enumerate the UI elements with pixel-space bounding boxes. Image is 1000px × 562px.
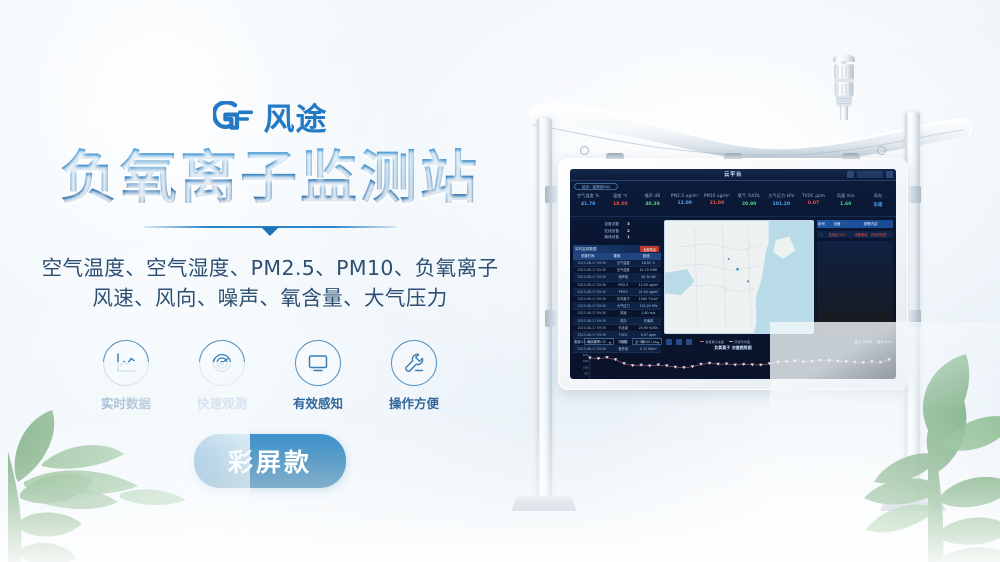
metric-label: PM2.5 ug/m³	[669, 193, 701, 198]
table-cell: 2023-08-17 09:30	[573, 282, 611, 288]
brand-name: 风途	[264, 94, 328, 139]
alarm-row[interactable]: 1监测站 003设备离线，请及时检查	[817, 231, 893, 238]
metric-tile[interactable]: 空气湿度 %41.70	[572, 191, 604, 216]
alarm-cell: 1	[817, 233, 826, 237]
kpi-min: 最小 820	[877, 339, 892, 344]
metric-value: 12.00	[669, 201, 701, 206]
divider-triangle-icon	[261, 227, 279, 236]
frame-hook	[842, 153, 860, 159]
metric-tile[interactable]: 噪声 dB40.30	[636, 191, 668, 216]
table-cell: PM2.5	[611, 282, 636, 288]
table-cell: 空气温度	[611, 260, 636, 266]
alarm-panel: 序号设备报警内容 1监测站 003设备离线，请及时检查	[817, 220, 893, 334]
chart-download-icon[interactable]	[676, 339, 682, 345]
metric-label: 温度 ℃	[604, 193, 636, 199]
dashboard-title: 云平台	[724, 170, 742, 178]
table-cell: 2023-08-17 09:30	[573, 267, 611, 273]
stat-label: 在线设备	[604, 229, 619, 234]
table-cell: 空气湿度	[611, 267, 636, 273]
svg-text:12:00: 12:00	[692, 378, 698, 379]
alarm-header: 序号设备报警内容	[817, 220, 893, 228]
table-column-header: 数值	[632, 253, 661, 260]
metric-label: PM10 ug/m³	[701, 193, 733, 198]
metric-tile[interactable]: TVOC ppm0.07	[797, 191, 829, 216]
table-cell: 2023-08-17 09:30	[573, 289, 611, 295]
scene-background: 风途 负氧离子监测站 空气温度、空气湿度、PM2.5、PM10、负氧离子 风速、…	[0, 0, 1000, 562]
feature-label: 操作方便	[389, 393, 439, 412]
svg-text:01:00: 01:00	[598, 378, 604, 379]
svg-text:2000: 2000	[583, 354, 589, 357]
table-cell: 2023-08-17 09:30	[573, 296, 611, 302]
svg-text:1500: 1500	[583, 360, 589, 363]
kpi-max: 最大 1820	[855, 339, 872, 344]
alarm-cell: 监测站 003	[826, 232, 848, 237]
svg-text:20:00: 20:00	[760, 378, 766, 379]
header-widgets	[847, 171, 893, 178]
alarm-column-header: 设备	[826, 222, 848, 227]
table-cell: 负氧离子	[611, 296, 636, 302]
metric-label: 噪声 dB	[636, 193, 668, 199]
table-caption-bar: 实时监测数据 全部导出	[573, 245, 661, 253]
china-map-icon: ···	[665, 221, 813, 333]
metric-value: 21.00	[701, 201, 733, 206]
table-cell: 1580 个/cm³	[636, 296, 661, 302]
alarm-rows: 1监测站 003设备离线，请及时检查	[817, 231, 893, 238]
svg-text:11:00: 11:00	[683, 378, 689, 379]
export-button[interactable]: 全部导出	[640, 246, 659, 252]
svg-text:500: 500	[584, 373, 589, 376]
svg-text:05:00: 05:00	[632, 378, 638, 379]
feature-label: 有效感知	[293, 393, 343, 412]
subtitle-line-2: 风速、风向、噪声、氧含量、大气压力	[42, 283, 499, 314]
svg-text:02:00: 02:00	[606, 378, 612, 379]
realtime-data-table[interactable]: 实时监测数据 全部导出 采集时间要素数值 2023-08-17 09:30空气温…	[573, 245, 661, 353]
svg-text:17:00: 17:00	[735, 378, 741, 379]
table-cell: 21.00 ug/m³	[636, 289, 661, 295]
stat-row: 在线设备2	[577, 229, 657, 234]
stat-row: 设备总数3	[577, 222, 657, 227]
table-cell: 12.00 ug/m³	[636, 282, 661, 288]
stat-value: 2	[627, 229, 630, 234]
metric-tile[interactable]: 氧气 %VOL20.90	[733, 191, 765, 216]
legend-swatch	[700, 341, 704, 343]
table-cell: 风速	[611, 310, 636, 316]
svg-text:08:00: 08:00	[658, 378, 664, 379]
stat-label: 设备总数	[604, 222, 619, 227]
svg-text:23:00: 23:00	[786, 378, 792, 379]
frame-eyelet	[877, 146, 886, 155]
alarm-cell: 设备离线，请及时检查	[848, 232, 893, 237]
legend-entry[interactable]: 历史平均值	[729, 339, 750, 344]
line-chart-icon	[114, 351, 138, 375]
alarm-column-header: 序号	[817, 222, 826, 227]
table-row[interactable]: 2023-08-17 09:30噪声值40.30 dB	[573, 274, 661, 281]
table-cell: 2023-08-17 09:30	[573, 332, 611, 338]
radar-sensor-icon	[210, 351, 234, 375]
metric-tile[interactable]: 大气压力 kPa101.20	[765, 191, 797, 216]
metric-label: 氧气 %VOL	[733, 193, 765, 199]
subtitle-line-1: 空气温度、空气湿度、PM2.5、PM10、负氧离子	[42, 253, 499, 284]
table-cell: 20.90 %VOL	[636, 325, 661, 331]
table-cell: 噪声值	[611, 274, 636, 280]
metric-tile[interactable]: 温度 ℃18.50	[604, 191, 636, 216]
table-cell: 2023-08-17 09:30	[573, 303, 611, 309]
svg-text:18:00: 18:00	[743, 378, 749, 379]
table-row[interactable]: 2023-08-17 09:30大气压力101.20 kPa	[573, 303, 661, 310]
table-row[interactable]: 2023-08-17 09:30空气温度18.50 ℃	[573, 260, 661, 267]
table-cell: 2023-08-17 09:30	[573, 310, 611, 316]
metric-tile-row: 空气湿度 %41.70温度 ℃18.50噪声 dB40.30PM2.5 ug/m…	[570, 191, 896, 217]
table-row[interactable]: 2023-08-17 09:30风速1.60 m/s	[573, 310, 661, 317]
stat-row: 离线设备1	[577, 235, 657, 240]
table-cell: 风向	[611, 318, 636, 324]
svg-text:00:00: 00:00	[794, 378, 800, 379]
svg-text:03:00: 03:00	[615, 378, 621, 379]
table-cell: 1.60 m/s	[636, 310, 661, 316]
mount-bracket-left-top	[545, 186, 558, 203]
table-cell: 40.30 dB	[636, 274, 661, 280]
timerange-select[interactable]: 近一天	[632, 338, 662, 345]
alarm-column-header: 报警内容	[848, 222, 893, 227]
svg-text:04:00: 04:00	[623, 378, 629, 379]
legend-label: 负氧离子浓度	[705, 339, 724, 344]
mount-bracket-right-top	[908, 186, 921, 203]
legend-label: 历史平均值	[735, 339, 750, 344]
feature-icon-ring	[295, 340, 341, 386]
table-cell: 0.07 ppm	[636, 332, 661, 338]
monitor-screen-icon	[306, 351, 330, 375]
svg-text:00:00: 00:00	[589, 378, 595, 379]
table-cell: 101.20 kPa	[636, 303, 661, 309]
metric-label: TVOC ppm	[797, 193, 829, 198]
table-row[interactable]: 2023-08-17 09:30负氧离子1580 个/cm³	[573, 296, 661, 303]
widget-tile	[847, 171, 854, 178]
svg-text:14:00: 14:00	[709, 378, 715, 379]
ultrasonic-weather-sensor-icon	[824, 52, 864, 120]
table-row[interactable]: 2023-08-17 09:30氧含量20.90 %VOL	[573, 325, 661, 332]
metric-tile[interactable]: 风速 m/s1.60	[830, 191, 862, 216]
table-cell: 41.70 %RH	[636, 267, 661, 273]
svg-text:10:00: 10:00	[675, 378, 681, 379]
stat-label: 离线设备	[604, 235, 619, 240]
hero-subtitle: 空气温度、空气湿度、PM2.5、PM10、负氧离子 风速、风向、噪声、氧含量、大…	[42, 253, 499, 315]
legend-swatch	[729, 341, 733, 343]
metric-value: 41.70	[572, 202, 604, 207]
metric-tile[interactable]: 风向东南	[862, 191, 894, 216]
widget-tile	[857, 171, 883, 178]
table-caption: 实时监测数据	[575, 247, 597, 252]
table-cell: 18.50 ℃	[636, 260, 661, 266]
metric-tile[interactable]: PM10 ug/m³21.00	[701, 191, 733, 216]
chart-kpis: 最大 1820 最小 820	[855, 339, 892, 344]
table-header: 采集时间要素数值	[573, 253, 661, 260]
chart-refresh-icon[interactable]	[686, 339, 692, 345]
stat-value: 1	[627, 235, 630, 240]
svg-text:13:00: 13:00	[700, 378, 706, 379]
table-cell: 氧含量	[611, 325, 636, 331]
metric-label: 大气压力 kPa	[765, 193, 797, 199]
left-column: 设备总数3在线设备2离线设备1 实时监测数据 全部导出 采集时间要素数值 202…	[573, 220, 661, 334]
select-right-label: 时间段	[618, 339, 628, 344]
svg-text:07:00: 07:00	[649, 378, 655, 379]
stat-value: 3	[627, 222, 630, 227]
brand-lockup: 风途	[213, 98, 328, 134]
device-stats: 设备总数3在线设备2离线设备1	[573, 220, 661, 242]
svg-text:1000: 1000	[583, 366, 589, 369]
alarm-photo-area	[817, 241, 893, 334]
svg-text:06:00: 06:00	[641, 378, 647, 379]
feature-icon-ring	[199, 340, 245, 386]
svg-text:15:00: 15:00	[717, 378, 723, 379]
metric-label: 空气湿度 %	[572, 193, 604, 199]
svg-text:16:00: 16:00	[726, 378, 732, 379]
metric-value: 东南	[862, 202, 894, 208]
svg-text:21:00: 21:00	[769, 378, 775, 379]
table-column-header: 要素	[602, 253, 631, 260]
table-cell: 大气压力	[611, 303, 636, 309]
feature-item-effective-sensing[interactable]: 有效感知	[282, 340, 354, 412]
frame-hook	[606, 153, 624, 159]
frame-eyelet	[580, 146, 589, 155]
element-select[interactable]: 负氧离子	[584, 338, 614, 345]
svg-text:09:00: 09:00	[666, 378, 672, 379]
chart-table-view-icon[interactable]	[666, 339, 672, 345]
metric-value: 0.07	[797, 201, 829, 206]
page-title: 负氧离子监测站	[60, 148, 480, 210]
table-cell: 2023-08-17 09:30	[573, 274, 611, 280]
fengtu-swoosh-logo-icon	[213, 101, 255, 131]
metric-value: 18.50	[604, 202, 636, 207]
mount-bracket-left-bottom	[545, 310, 558, 327]
metric-label: 风速 m/s	[830, 193, 862, 199]
ground-haze	[0, 412, 1000, 562]
dashboard-header: 云平台	[570, 169, 896, 181]
table-row[interactable]: 2023-08-17 09:30PM1021.00 ug/m³	[573, 289, 661, 296]
frame-hook	[724, 153, 742, 159]
feature-icon-ring	[391, 340, 437, 386]
dashboard-middle: 设备总数3在线设备2离线设备1 实时监测数据 全部导出 采集时间要素数值 202…	[570, 217, 896, 337]
metric-label: 风向	[862, 193, 894, 199]
table-row[interactable]: 2023-08-17 09:30PM2.512.00 ug/m³	[573, 282, 661, 289]
metric-value: 1.60	[830, 202, 862, 207]
select-left-label: 要素	[574, 339, 580, 344]
wrench-icon	[402, 351, 426, 375]
table-cell: TVOC	[611, 332, 636, 338]
table-cell: 2023-08-17 09:30	[573, 318, 611, 324]
metric-value: 40.30	[636, 202, 668, 207]
widget-tile	[886, 171, 893, 178]
table-cell: 2023-08-17 09:30	[573, 325, 611, 331]
table-cell: PM10	[611, 289, 636, 295]
metric-tile[interactable]: PM2.5 ug/m³12.00	[669, 191, 701, 216]
china-map-panel[interactable]: ···	[664, 220, 814, 334]
chart-legend: 负氧离子浓度历史平均值	[700, 339, 750, 344]
table-row[interactable]: 2023-08-17 09:30空气湿度41.70 %RH	[573, 267, 661, 274]
feature-icon-ring	[103, 340, 149, 386]
mount-bracket-right-bottom	[908, 310, 921, 327]
feature-item-easy-operation[interactable]: 操作方便	[378, 340, 450, 412]
legend-entry[interactable]: 负氧离子浓度	[700, 339, 724, 344]
metric-value: 20.90	[733, 202, 765, 207]
metric-value: 101.20	[765, 202, 797, 207]
table-column-header: 采集时间	[573, 253, 602, 260]
svg-text:22:00: 22:00	[777, 378, 783, 379]
svg-text:19:00: 19:00	[752, 378, 758, 379]
station-selector[interactable]: 站点：监测站001	[574, 183, 618, 190]
table-row[interactable]: 2023-08-17 09:30风向东南风	[573, 318, 661, 325]
title-divider	[144, 222, 396, 236]
table-cell: 东南风	[636, 318, 661, 324]
table-cell: 2023-08-17 09:30	[573, 260, 611, 266]
